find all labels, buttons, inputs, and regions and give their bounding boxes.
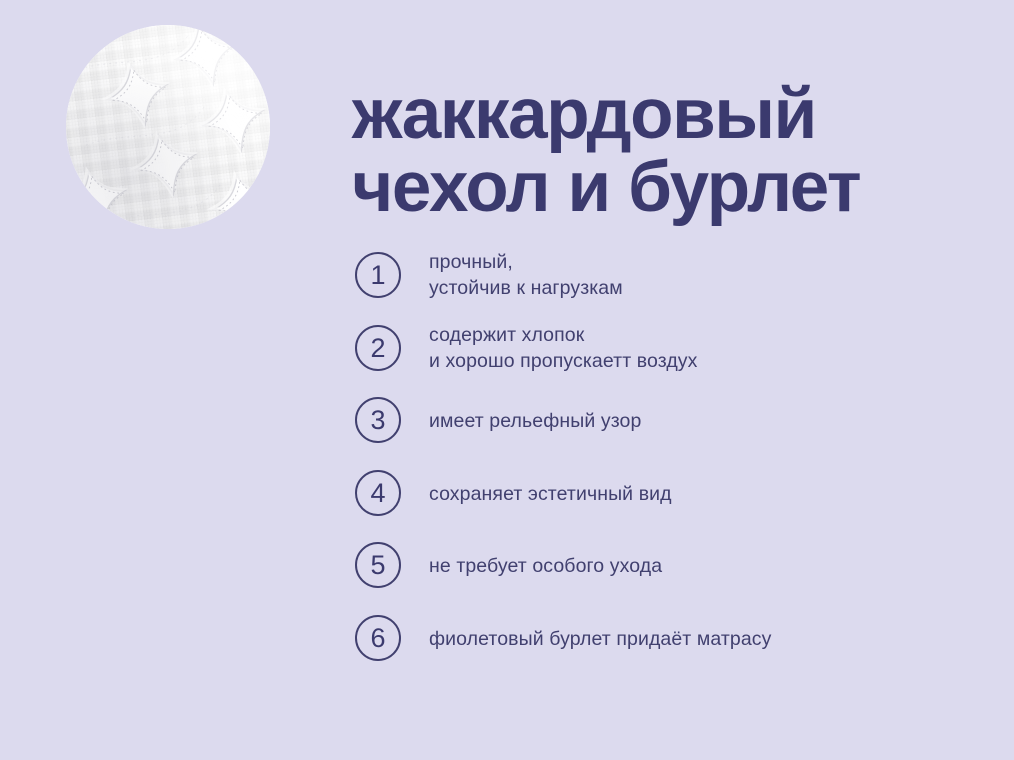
list-item-text: не требует особого ухода [429, 553, 662, 579]
page-title-line-2: чехол и бурлет [352, 151, 1000, 224]
list-item-text-line: устойчив к нагрузкам [429, 275, 623, 301]
slide-canvas: жаккардовый чехол и бурлет 1 прочный, ус… [0, 0, 1014, 760]
list-item: 2 содержит хлопок и хорошо пропускаетт в… [355, 322, 975, 395]
list-item-text: прочный, устойчив к нагрузкам [429, 249, 623, 301]
list-item-text-line: прочный, [429, 249, 623, 275]
list-item-text: содержит хлопок и хорошо пропускаетт воз… [429, 322, 698, 374]
list-item-number-badge: 3 [355, 397, 401, 443]
feature-list: 1 прочный, устойчив к нагрузкам 2 содерж… [355, 249, 975, 684]
list-item-number-badge: 4 [355, 470, 401, 516]
list-item-text: фиолетовый бурлет придаёт матрасу [429, 626, 772, 652]
list-item-text-line: содержит хлопок [429, 322, 698, 348]
fabric-shading-overlay [66, 25, 270, 229]
list-item-text-line: не требует особого ухода [429, 553, 662, 579]
list-item-text: сохраняет эстетичный вид [429, 481, 672, 507]
list-item-text-line: фиолетовый бурлет придаёт матрасу [429, 626, 772, 652]
page-title-line-1: жаккардовый [352, 78, 1000, 151]
list-item-text-line: имеет рельефный узор [429, 408, 641, 434]
list-item-number-badge: 6 [355, 615, 401, 661]
list-item-number-badge: 2 [355, 325, 401, 371]
list-item-number-badge: 1 [355, 252, 401, 298]
list-item-text-line: сохраняет эстетичный вид [429, 481, 672, 507]
list-item: 5 не требует особого ухода [355, 539, 975, 612]
list-item: 1 прочный, устойчив к нагрузкам [355, 249, 975, 322]
page-title: жаккардовый чехол и бурлет [352, 78, 1000, 224]
list-item-text: имеет рельефный узор [429, 408, 641, 434]
fabric-swatch-image [66, 25, 270, 229]
list-item: 6 фиолетовый бурлет придаёт матрасу [355, 612, 975, 685]
list-item: 3 имеет рельефный узор [355, 394, 975, 467]
list-item-text-line: и хорошо пропускаетт воздух [429, 348, 698, 374]
list-item: 4 сохраняет эстетичный вид [355, 467, 975, 540]
list-item-number-badge: 5 [355, 542, 401, 588]
